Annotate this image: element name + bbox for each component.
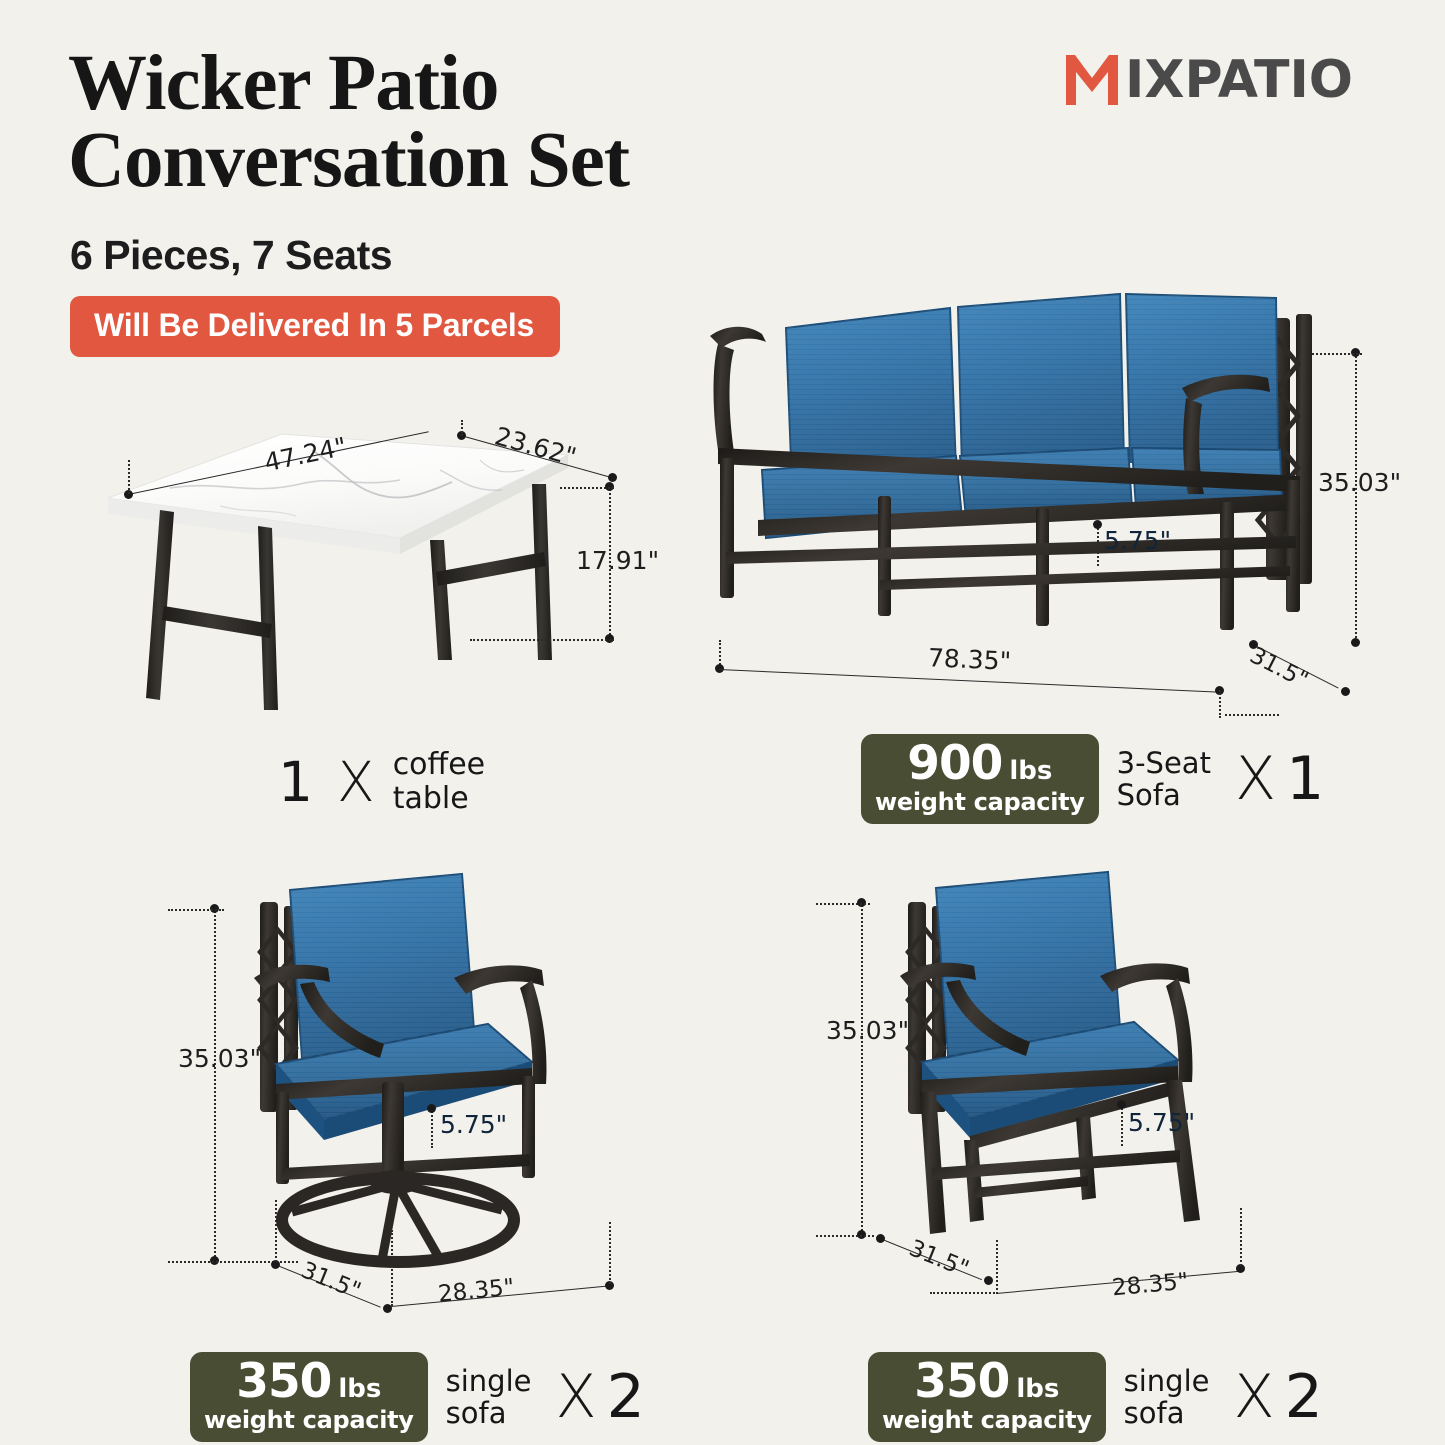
sofa-weight-value: 900: [907, 740, 1002, 787]
swivel-chair-height-label: 35.03": [178, 1044, 261, 1073]
swivel-chair-weight-capacity-text: weight capacity: [204, 1408, 414, 1433]
swivel-chair-item-label-line2: sofa: [446, 1396, 507, 1430]
sofa-width-label: 78.35": [927, 643, 1011, 676]
stationary-chair-item-label-line2: sofa: [1124, 1396, 1185, 1430]
swivel-chair-multiplier: X: [556, 1362, 597, 1432]
swivel-chair-base: [282, 1170, 514, 1262]
sofa-weight-capacity-text: weight capacity: [875, 790, 1085, 815]
coffee-table-multiplier: X: [337, 750, 375, 814]
stationary-chair-weight-capacity-badge: 350 lbs weight capacity: [868, 1352, 1106, 1442]
page-title: Wicker Patio Conversation Set: [68, 46, 828, 199]
subtitle: 6 Pieces, 7 Seats: [70, 232, 392, 279]
sofa-item-label-line1: 3-Seat: [1117, 746, 1211, 780]
stationary-chair-cushion-label: 5.75": [1128, 1108, 1195, 1137]
swivel-chair-cushion-label: 5.75": [440, 1110, 507, 1139]
title-line-1: Wicker Patio: [68, 40, 499, 127]
stationary-chair-weight-value: 350: [914, 1358, 1009, 1405]
sofa-weight-capacity-badge: 900 lbs weight capacity: [861, 734, 1099, 824]
stationary-chair-count: 2: [1285, 1362, 1323, 1432]
sofa-cushion-label: 5.75": [1104, 526, 1171, 555]
stationary-chair-weight-capacity-text: weight capacity: [882, 1408, 1092, 1433]
coffee-table-label-line2: table: [393, 781, 469, 816]
infographic-canvas: Wicker Patio Conversation Set 6 Pieces, …: [0, 0, 1445, 1445]
coffee-table-caption: 1 X coffee table: [278, 748, 485, 815]
coffee-table-label-line1: coffee: [393, 747, 485, 782]
sofa-multiplier: X: [1235, 744, 1276, 814]
parcel-delivery-badge: Will Be Delivered In 5 Parcels: [70, 296, 560, 357]
swivel-chair-caption: 350 lbs weight capacity single sofa X 2: [190, 1352, 645, 1442]
swivel-chair-weight-value: 350: [236, 1358, 331, 1405]
swivel-chair-illustration: [232, 868, 652, 1288]
sofa-item-label-line2: Sofa: [1117, 778, 1181, 812]
sofa-weight-unit: lbs: [1009, 758, 1052, 784]
stationary-chair-weight-unit: lbs: [1016, 1376, 1059, 1402]
stationary-chair-item-label: single sofa: [1124, 1365, 1210, 1430]
stationary-chair-illustration: [880, 868, 1300, 1288]
mixpatio-m-icon: [1063, 52, 1121, 108]
stationary-chair-caption: 350 lbs weight capacity single sofa X 2: [868, 1352, 1323, 1442]
three-seat-sofa-caption: 900 lbs weight capacity 3-Seat Sofa X 1: [861, 734, 1324, 824]
swivel-chair-weight-capacity-badge: 350 lbs weight capacity: [190, 1352, 428, 1442]
swivel-chair-item-label: single sofa: [446, 1365, 532, 1430]
stationary-chair-height-label: 35.03": [826, 1016, 909, 1045]
swivel-chair-count: 2: [607, 1362, 645, 1432]
stationary-chair-width-label: 28.35": [1111, 1269, 1189, 1302]
swivel-chair-weight-unit: lbs: [338, 1376, 381, 1402]
sofa-height-label: 35.03": [1318, 468, 1401, 497]
coffee-table-height-label: 17.91": [576, 546, 659, 575]
brand-wordmark: IXPATIO: [1125, 52, 1353, 108]
sofa-count: 1: [1286, 744, 1324, 814]
stationary-chair-multiplier: X: [1234, 1362, 1275, 1432]
brand-logo: IXPATIO: [1063, 52, 1353, 108]
swivel-chair-item-label-line1: single: [446, 1364, 532, 1398]
coffee-table-count: 1: [278, 750, 315, 814]
sofa-item-label: 3-Seat Sofa: [1117, 747, 1211, 812]
three-seat-sofa-illustration: [700, 280, 1340, 700]
stationary-chair-item-label-line1: single: [1124, 1364, 1210, 1398]
title-line-2: Conversation Set: [68, 123, 828, 200]
coffee-table-label: coffee table: [393, 748, 485, 815]
